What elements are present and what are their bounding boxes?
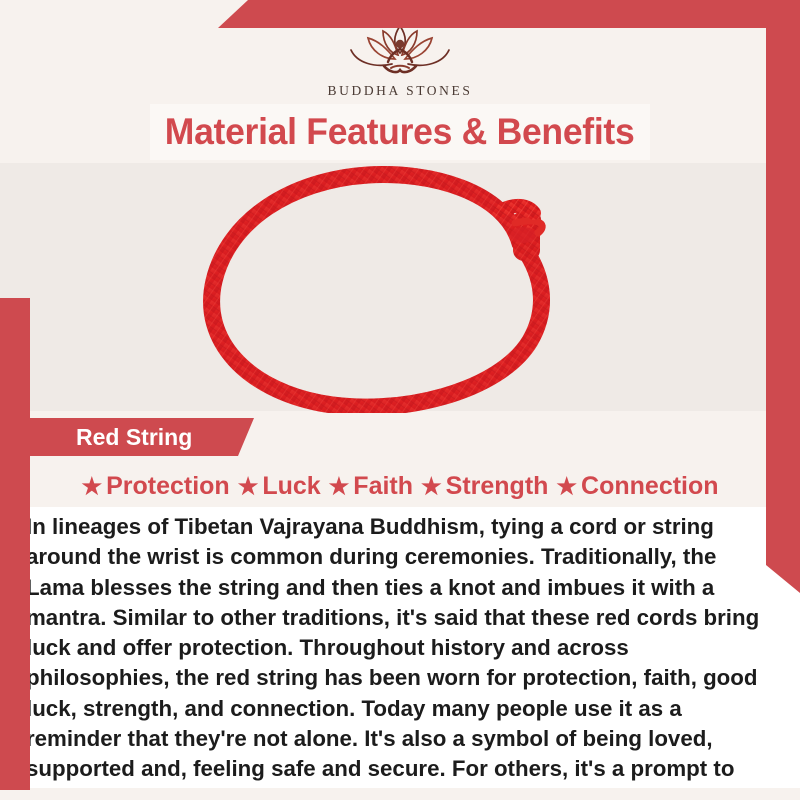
brand-logo: BUDDHA STONES <box>0 22 800 102</box>
infographic-poster: BUDDHA STONES Material Features & Benefi… <box>0 0 800 800</box>
star-icon: ★ <box>329 475 350 498</box>
title-banner: Material Features & Benefits <box>150 104 650 160</box>
benefit-item-faith: ★ Faith <box>329 472 413 501</box>
frame-right-bar <box>766 28 800 593</box>
benefit-label: Connection <box>581 472 719 501</box>
benefit-label: Strength <box>446 472 549 501</box>
star-icon: ★ <box>81 475 102 498</box>
benefit-label: Protection <box>106 472 230 501</box>
benefit-item-luck: ★ Luck <box>238 472 321 501</box>
brand-wordmark: BUDDHA STONES <box>328 83 473 99</box>
star-icon: ★ <box>556 475 577 498</box>
benefit-label: Faith <box>353 472 413 501</box>
benefit-item-strength: ★ Strength <box>421 472 548 501</box>
lotus-meditation-icon <box>335 22 465 80</box>
frame-left-bar <box>0 298 30 790</box>
product-label: Red String <box>76 424 192 451</box>
star-icon: ★ <box>421 475 442 498</box>
benefit-item-protection: ★ Protection <box>81 472 229 501</box>
product-description: In lineages of Tibetan Vajrayana Buddhis… <box>26 512 770 800</box>
benefit-item-connection: ★ Connection <box>556 472 718 501</box>
benefit-label: Luck <box>262 472 320 501</box>
benefits-list: ★ Protection ★ Luck ★ Faith ★ Strength ★… <box>0 468 800 504</box>
frame-top-bar <box>218 0 800 28</box>
frame-bottom-strip <box>0 788 800 800</box>
star-icon: ★ <box>238 475 259 498</box>
page-title: Material Features & Benefits <box>165 111 635 153</box>
product-label-ribbon: Red String <box>22 418 254 456</box>
product-image <box>0 163 800 413</box>
